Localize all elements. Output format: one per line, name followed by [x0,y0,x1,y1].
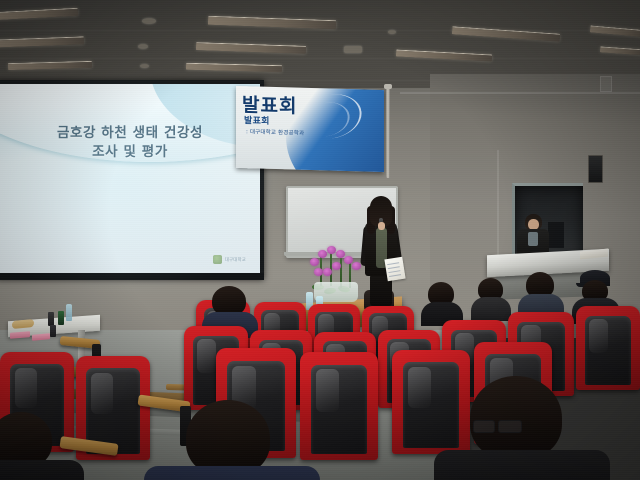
projected-slide: 금호강 하천 생태 건강성 조사 및 평가 대구대학교 [0,84,260,274]
ceiling-speaker-grille [138,44,148,49]
beverage-can [48,312,54,326]
beverage-can [58,311,64,325]
doorway-interior-shadow [548,222,564,248]
orchid-bloom [344,256,353,264]
seat-highlight [408,367,431,409]
lecture-hall-photo: 금호강 하천 생태 건강성 조사 및 평가 대구대학교 발표회 발표회 : 대구… [0,0,640,480]
presenter [358,196,404,306]
auditorium-seat [576,306,640,390]
wall-plate [600,76,612,92]
recessed-fluorescent-fixture [186,63,282,73]
seat-highlight [589,319,608,353]
auditorium-seat [392,350,470,454]
audience-shoulders [471,297,511,321]
seat-highlight [316,369,339,412]
audience-head [470,376,562,460]
auditorium-seat [300,352,378,460]
operator-shirt [528,232,538,246]
projection-screen: 금호강 하천 생태 건강성 조사 및 평가 대구대학교 [0,80,264,280]
water-bottle [66,304,72,321]
slide-title: 금호강 하천 생태 건강성 조사 및 평가 [0,124,260,162]
orchid-bloom [314,268,323,276]
recessed-fluorescent-fixture [0,36,84,47]
logo-mark-icon [213,255,222,264]
recessed-fluorescent-fixture [590,25,640,37]
orchid-bloom [318,250,327,258]
orchid-bloom [310,258,319,266]
seat-highlight [197,339,216,373]
event-banner: 발표회 발표회 : 대구대학교 환경공학과 [236,86,384,172]
recessed-fluorescent-fixture [600,46,640,55]
beverage-can [50,325,56,337]
audience-shoulders [0,460,84,480]
slide-title-line-2: 조사 및 평가 [0,143,260,162]
orchid-bloom [336,250,345,258]
logo-text: 대구대학교 [225,257,246,263]
audience-shoulders [144,466,320,480]
recessed-fluorescent-fixture [0,8,78,20]
audience-head [186,400,270,476]
banner-support-pole [386,86,390,178]
recessed-fluorescent-fixture [396,49,492,61]
banner-department: : 대구대학교 환경공학과 [246,127,304,137]
audience-shoulders [434,450,610,480]
orchid-bloom [323,268,332,276]
ceiling-speaker-grille [140,64,149,68]
recessed-fluorescent-fixture [208,16,336,29]
seat-highlight [15,368,37,408]
orchid-bloom [332,262,341,270]
banner-pole-cap [384,84,392,89]
recessed-fluorescent-fixture [196,42,306,54]
slide-university-logo: 대구대학교 [213,255,246,264]
slide-title-line-1: 금호강 하천 생태 건강성 [0,124,260,143]
wall-ceiling-joint [400,92,640,94]
recessed-fluorescent-fixture [452,26,560,42]
presenter-script-papers [384,257,405,282]
ceiling-speaker-grille [142,18,156,24]
seat-highlight [91,373,113,415]
screen-bottom-bar [0,273,264,280]
banner-subtitle: 발표회 [244,113,270,127]
wall-speaker-icon [588,155,603,183]
presenter-hand [378,222,385,230]
recessed-fluorescent-fixture [8,61,92,70]
eyeglasses-icon [473,420,495,433]
ceiling-vent [344,46,362,53]
eyeglasses-icon [498,420,522,433]
orchid-bloom [327,246,336,254]
ceiling-speaker-grille [388,30,396,34]
